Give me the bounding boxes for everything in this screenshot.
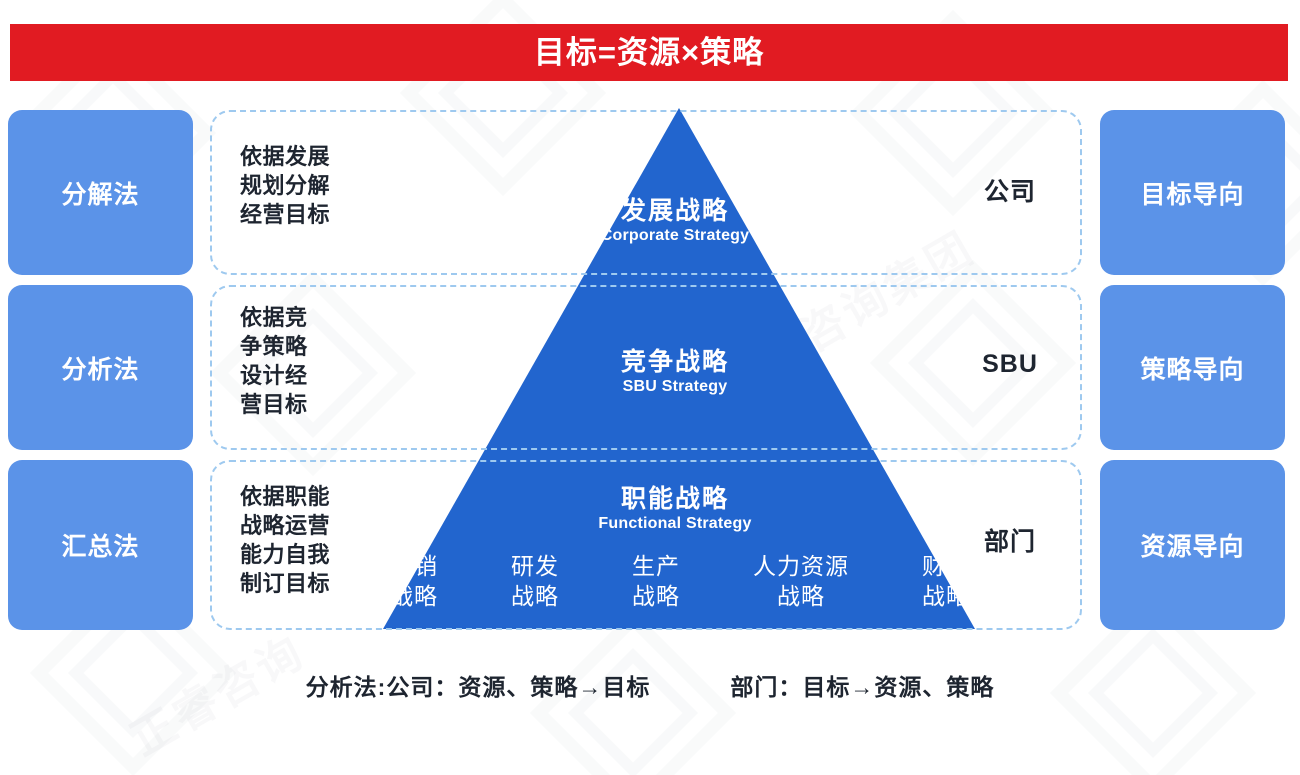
method-box-label: 分解法 [61,175,139,211]
functional-strategy-line2: 战略 [753,582,849,612]
tier-label-functional: 职能战略 Functional Strategy [475,485,875,535]
method-box-label: 分析法 [61,350,139,386]
tier-name-cn: 竞争战略 [475,348,875,377]
functional-strategy-rnd: 研发 战略 [511,552,559,612]
orientation-box-label: 资源导向 [1140,527,1244,563]
functional-strategy-line2: 战略 [922,582,970,612]
description-line: 能力自我 [240,540,400,569]
orientation-box-goal[interactable]: 目标导向 [1100,110,1285,275]
tier-name-cn: 发展战略 [475,197,875,226]
description-line: 营目标 [240,390,400,419]
page-title: 目标=资源×策略 [534,37,764,68]
tier-label-sbu: 竞争战略 SBU Strategy [475,348,875,398]
method-box-label: 汇总法 [61,527,139,563]
footer-note-department: 部门：目标→资源、策略 [730,668,994,702]
orientation-box-label: 策略导向 [1140,350,1244,386]
tier-name-en: Corporate Strategy [475,226,875,247]
functional-strategy-hr: 人力资源 战略 [753,552,849,612]
scope-label-company: 公司 [950,172,1070,208]
description-line: 依据职能 [240,482,400,511]
tier-label-corporate: 发展战略 Corporate Strategy [475,197,875,247]
scope-label-sbu: SBU [950,350,1070,379]
orientation-box-resource[interactable]: 资源导向 [1100,460,1285,630]
description-line: 制订目标 [240,569,400,598]
functional-strategy-line2: 战略 [390,582,438,612]
description-line: 经营目标 [240,200,400,229]
tier-name-en: SBU Strategy [475,377,875,398]
functional-strategy-line1: 营销 [390,552,438,582]
orientation-box-label: 目标导向 [1140,175,1244,211]
orientation-box-strategy[interactable]: 策略导向 [1100,285,1285,450]
method-box-analysis[interactable]: 分析法 [8,285,193,450]
footer-note-company: 分析法:公司：资源、策略→目标 [306,668,651,702]
footer-notes: 分析法:公司：资源、策略→目标 部门：目标→资源、策略 [0,668,1300,702]
diagram-canvas: 正睿咨询 正睿咨询集团 目标=资源×策略 分解法 分析法 汇总法 目标导向 策略… [0,0,1300,775]
description-row-2: 依据竞 争策略 设计经 营目标 [240,303,400,419]
description-line: 依据发展 [240,142,400,171]
functional-strategy-marketing: 营销 战略 [390,552,438,612]
description-line: 规划分解 [240,171,400,200]
method-box-aggregation[interactable]: 汇总法 [8,460,193,630]
description-line: 争策略 [240,332,400,361]
tier-name-en: Functional Strategy [475,514,875,535]
functional-strategy-line1: 研发 [511,552,559,582]
tier-name-cn: 职能战略 [475,485,875,514]
functional-strategy-finance: 财务 战略 [922,552,970,612]
functional-strategy-line2: 战略 [511,582,559,612]
functional-strategy-line1: 财务 [922,552,970,582]
method-box-decomposition[interactable]: 分解法 [8,110,193,275]
functional-strategy-production: 生产 战略 [632,552,680,612]
functional-strategy-row: 营销 战略 研发 战略 生产 战略 人力资源 战略 财务 战略 [390,552,970,612]
description-row-3: 依据职能 战略运营 能力自我 制订目标 [240,482,400,598]
description-line: 设计经 [240,361,400,390]
description-line: 依据竞 [240,303,400,332]
description-row-1: 依据发展 规划分解 经营目标 [240,142,400,229]
functional-strategy-line1: 人力资源 [753,552,849,582]
title-bar: 目标=资源×策略 [10,24,1288,81]
functional-strategy-line2: 战略 [632,582,680,612]
description-line: 战略运营 [240,511,400,540]
functional-strategy-line1: 生产 [632,552,680,582]
